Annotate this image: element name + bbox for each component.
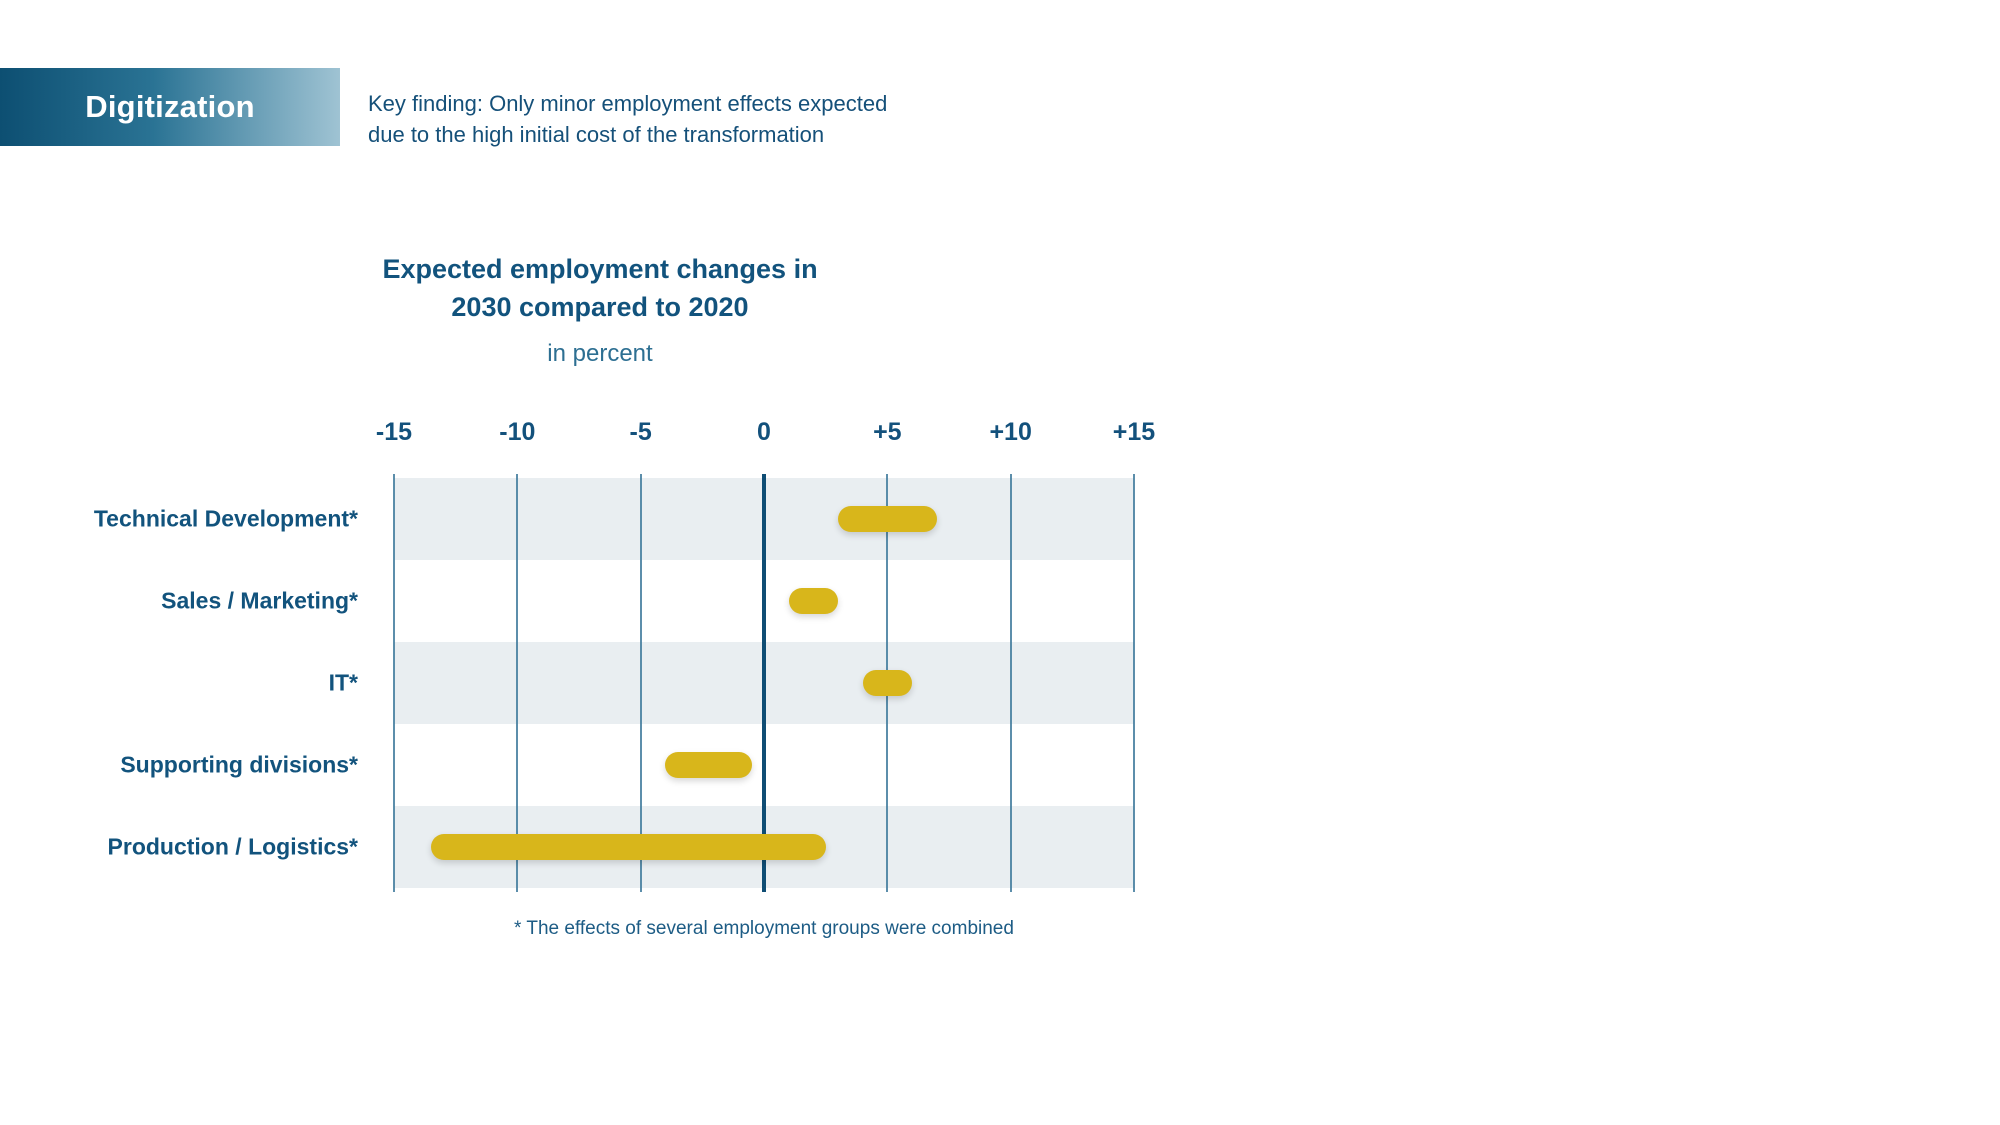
gridline <box>640 474 642 892</box>
x-tick-15: +15 <box>1113 418 1155 447</box>
range-bar <box>665 752 751 778</box>
chart-container: Expected employment changes in 2030 comp… <box>0 0 1300 1125</box>
chart-title: Expected employment changes in 2030 comp… <box>350 250 850 326</box>
x-tick-0: 0 <box>757 418 771 447</box>
range-bar <box>431 834 826 860</box>
range-bar <box>863 670 912 696</box>
range-bar <box>838 506 937 532</box>
gridline <box>516 474 518 892</box>
y-axis-category-labels: Technical Development*Sales / Marketing*… <box>0 478 370 888</box>
plot-area <box>394 478 1134 888</box>
x-axis-tick-labels: -15-10-50+5+10+15 <box>394 418 1134 452</box>
category-label: Sales / Marketing* <box>161 588 358 615</box>
category-label: Production / Logistics* <box>108 834 358 861</box>
slide-canvas: Digitization Key finding: Only minor emp… <box>0 0 2000 1125</box>
range-bar <box>789 588 838 614</box>
x-tick-10: +10 <box>989 418 1031 447</box>
case-studies-panel: EXAMPLES DIGITAL-CASE STUDIES 1. Automat… <box>1330 0 2000 1125</box>
category-label: Technical Development* <box>94 506 358 533</box>
chart-footnote: * The effects of several employment grou… <box>394 918 1134 940</box>
zero-axis-line <box>762 474 766 892</box>
x-tick--10: -10 <box>499 418 535 447</box>
chart-subtitle: in percent <box>350 340 850 368</box>
category-label: IT* <box>329 670 358 697</box>
gridline <box>393 474 395 892</box>
category-label: Supporting divisions* <box>120 752 358 779</box>
x-tick--5: -5 <box>630 418 652 447</box>
x-tick-5: +5 <box>873 418 902 447</box>
x-tick--15: -15 <box>376 418 412 447</box>
gridline <box>1010 474 1012 892</box>
gridline <box>1133 474 1135 892</box>
